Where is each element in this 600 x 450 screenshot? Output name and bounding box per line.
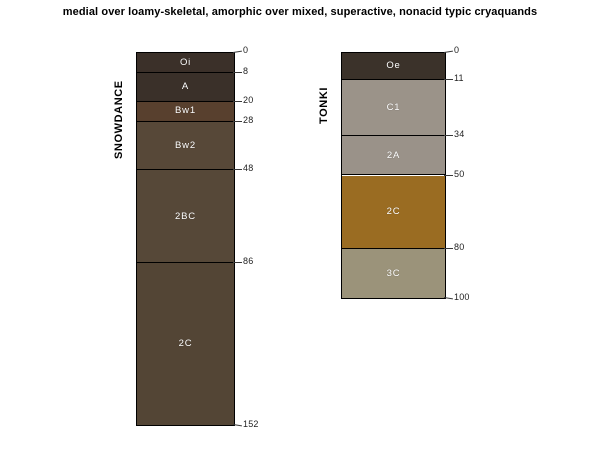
horizon-stack-tonki: OeC12A2C3C	[341, 52, 446, 299]
depth-label: 34	[454, 130, 464, 139]
profile-name-snowdance: SNOWDANCE	[114, 80, 125, 159]
horizon-label: Oi	[180, 58, 191, 68]
depth-label: 20	[243, 96, 253, 105]
horizon-label: 2C	[179, 339, 193, 349]
depth-tick-mark	[444, 79, 453, 80]
depth-tick-mark	[233, 424, 242, 426]
depth-tick-mark	[444, 297, 453, 299]
depth-tick-mark	[444, 248, 453, 249]
profile-name-tonki: TONKI	[319, 87, 330, 124]
depth-tick-mark	[233, 72, 242, 73]
horizon-label: Bw2	[175, 141, 196, 151]
depth-tick-mark	[233, 101, 242, 102]
depth-label: 0	[243, 46, 248, 55]
page-title: medial over loamy-skeletal, amorphic ove…	[0, 6, 600, 18]
depth-tick-mark	[444, 135, 453, 136]
horizon-a: A	[137, 73, 234, 102]
horizon-2c: 2C	[342, 176, 445, 250]
horizon-2bc: 2BC	[137, 170, 234, 263]
horizon-label: 2C	[387, 207, 401, 217]
horizon-oi: Oi	[137, 53, 234, 73]
horizon-c1: C1	[342, 80, 445, 136]
depth-label: 11	[454, 74, 464, 83]
depth-label: 80	[454, 243, 464, 252]
horizon-stack-snowdance: OiABw1Bw22BC2C	[136, 52, 235, 426]
horizon-label: 3C	[387, 269, 401, 279]
horizon-2c: 2C	[137, 263, 234, 425]
horizon-bw1: Bw1	[137, 102, 234, 122]
depth-label: 28	[243, 116, 253, 125]
depth-label: 100	[454, 293, 470, 302]
horizon-label: Bw1	[175, 106, 196, 116]
depth-tick-mark	[444, 175, 453, 176]
horizon-3c: 3C	[342, 249, 445, 298]
horizon-label: C1	[387, 103, 401, 113]
depth-label: 152	[243, 420, 259, 429]
horizon-label: 2BC	[175, 212, 196, 222]
horizon-label: Oe	[386, 61, 400, 71]
depth-tick-mark	[233, 51, 242, 53]
soil-profile-plot: medial over loamy-skeletal, amorphic ove…	[0, 0, 600, 450]
depth-label: 50	[454, 170, 464, 179]
horizon-label: A	[182, 82, 189, 92]
depth-label: 86	[243, 257, 253, 266]
depth-label: 0	[454, 46, 459, 55]
horizon-bw2: Bw2	[137, 122, 234, 171]
horizon-2a: 2A	[342, 136, 445, 175]
depth-label: 48	[243, 164, 253, 173]
depth-tick-mark	[233, 262, 242, 263]
depth-tick-mark	[233, 121, 242, 122]
depth-tick-mark	[233, 169, 242, 170]
horizon-oe: Oe	[342, 53, 445, 80]
depth-label: 8	[243, 67, 248, 76]
depth-tick-mark	[444, 51, 453, 53]
horizon-label: 2A	[387, 151, 400, 161]
